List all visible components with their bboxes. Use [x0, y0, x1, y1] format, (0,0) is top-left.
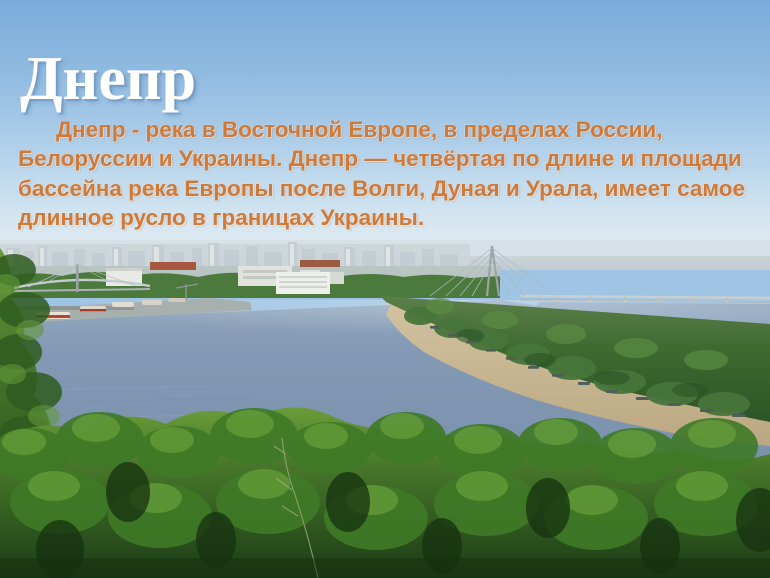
foreground-foliage	[0, 407, 770, 578]
presentation-slide: Днепр Днепр - река в Восточной Европе, в…	[0, 0, 770, 578]
riverside-hotel	[276, 272, 330, 294]
page-title: Днепр	[20, 48, 196, 110]
slide-body-text: Днепр - река в Восточной Европе, в преде…	[18, 115, 752, 233]
river-photograph	[0, 240, 770, 578]
city-skyline	[0, 242, 470, 270]
